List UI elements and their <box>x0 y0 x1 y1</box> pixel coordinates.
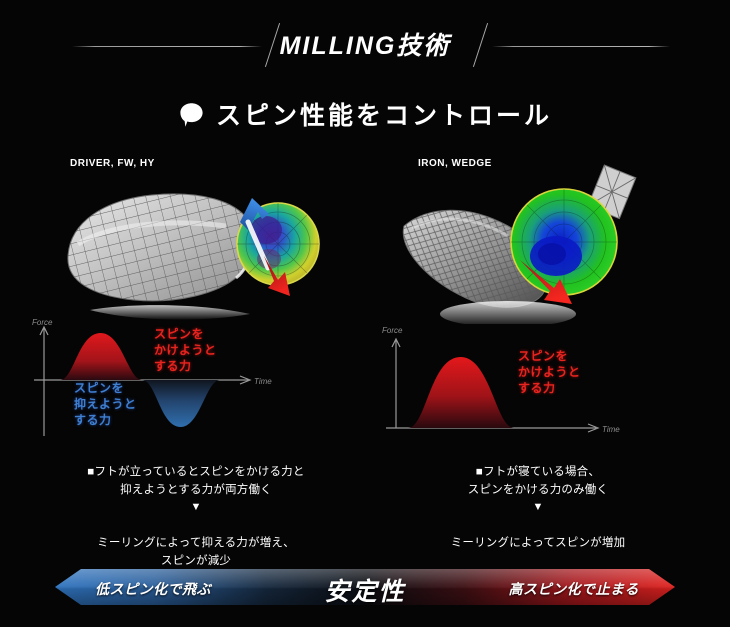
speech-bubble-icon <box>178 102 204 128</box>
iron-x-axis-label: Time <box>602 425 620 434</box>
iron-head-mesh-icon <box>368 164 708 324</box>
driver-artwork <box>26 164 366 324</box>
driver-caption: ■フトが立っているとスピンをかける力と 抑えようとする力が両方働く ▼ ミーリン… <box>26 446 366 570</box>
milling-technology-infographic: MILLING技術 スピン性能をコントロール DRIVER, FW, HY <box>0 0 730 627</box>
iron-caption: ■フトが寝ている場合、 スピンをかける力のみ働く ▼ ミーリングによってスピンが… <box>368 446 708 553</box>
panel-driver: DRIVER, FW, HY <box>26 150 366 550</box>
header: MILLING技術 <box>0 0 730 78</box>
page-title: MILLING技術 <box>0 26 730 62</box>
driver-annotation-red: スピンを かけようと する力 <box>154 326 217 375</box>
subtitle-row: スピン性能をコントロール <box>0 96 730 132</box>
iron-caption-bottom: ミーリングによってスピンが増加 <box>451 537 626 549</box>
iron-annotation-red: スピンを かけようと する力 <box>518 348 581 397</box>
subtitle-text: スピン性能をコントロール <box>216 96 552 132</box>
driver-caption-bottom: ミーリングによって抑える力が増え、 スピンが減少 <box>97 537 295 567</box>
iron-caption-top: ■フトが寝ている場合、 スピンをかける力のみ働く <box>468 466 608 496</box>
driver-force-graph: Force Time スピンを かけようと する力 スピンを 抑えようと する力 <box>26 318 366 443</box>
bar-label-high-spin: 高スピン化で止まる <box>509 579 640 599</box>
iron-caption-arrow-icon: ▼ <box>368 499 708 517</box>
spin-spectrum-bar: 低スピン化で飛ぶ 安定性 高スピン化で止まる <box>55 566 675 608</box>
driver-y-axis-label: Force <box>32 318 53 327</box>
iron-force-graph: Force Time スピンを かけようと する力 <box>368 318 708 443</box>
iron-artwork <box>368 164 708 324</box>
iron-y-axis-label: Force <box>382 326 403 335</box>
panel-iron: IRON, WEDGE <box>368 150 708 550</box>
driver-annotation-blue: スピンを 抑えようと する力 <box>74 380 137 429</box>
driver-caption-top: ■フトが立っているとスピンをかける力と 抑えようとする力が両方働く <box>87 466 304 496</box>
driver-x-axis-label: Time <box>254 377 272 386</box>
driver-caption-arrow-icon: ▼ <box>26 499 366 517</box>
driver-head-mesh-icon <box>26 164 366 324</box>
